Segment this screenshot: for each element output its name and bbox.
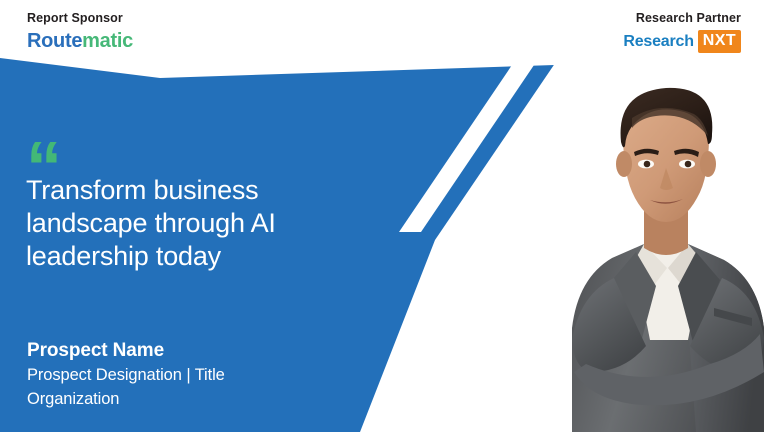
prospect-organization: Organization xyxy=(27,387,357,411)
ear-right xyxy=(700,151,716,177)
prospect-block: Prospect Name Prospect Designation | Tit… xyxy=(27,338,357,411)
pupil-right xyxy=(685,161,692,168)
portrait-photo xyxy=(528,72,768,432)
quote-line-2: landscape through AI xyxy=(26,207,326,240)
prospect-name: Prospect Name xyxy=(27,338,357,363)
ear-left xyxy=(616,151,632,177)
quote-line-1: Transform business xyxy=(26,174,326,207)
prospect-designation: Prospect Designation | Title xyxy=(27,363,357,387)
pupil-left xyxy=(644,161,651,168)
quote-headline: Transform business landscape through AI … xyxy=(26,174,326,273)
quote-line-3: leadership today xyxy=(26,240,326,273)
presentation-slide: Report Sponsor Routematic Research Partn… xyxy=(0,0,768,432)
